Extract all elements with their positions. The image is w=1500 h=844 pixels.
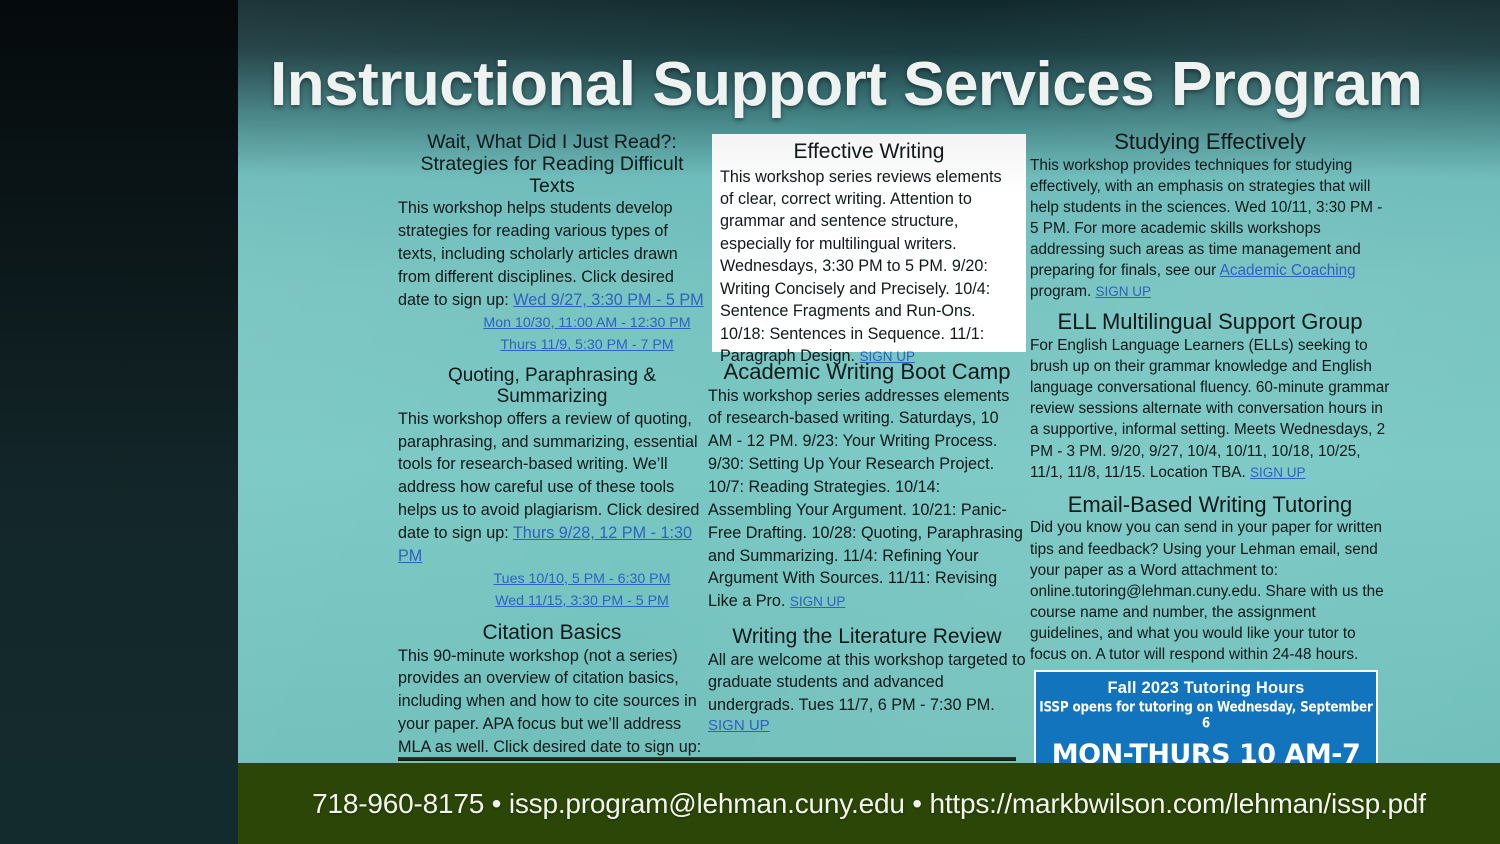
section-ell-multilingual-support-group: ELL Multilingual Support Group For Engli…	[1030, 310, 1390, 482]
section-heading: Email-Based Writing Tutoring	[1030, 493, 1390, 518]
section-quoting-paraphrasing-summarizing: Quoting, Paraphrasing & Summarizing This…	[398, 365, 706, 613]
sign-up-link[interactable]: SIGN UP	[708, 717, 770, 734]
section-body: For English Language Learners (ELLs) see…	[1030, 335, 1390, 483]
section-writing-the-literature-review: Writing the Literature Review All are we…	[708, 625, 1026, 735]
section-heading: Academic Writing Boot Camp	[708, 360, 1026, 385]
date-link[interactable]: Mon 10/30, 11:00 AM - 12:30 PM	[468, 312, 706, 335]
section-body: This workshop offers a review of quoting…	[398, 408, 706, 568]
sign-up-link[interactable]: SIGN UP	[1095, 284, 1151, 299]
footer-left-band	[0, 763, 238, 844]
tutoring-hours-title: Fall 2023 Tutoring Hours	[1036, 679, 1376, 698]
date-link-list: Mon 10/30, 11:00 AM - 12:30 PM Thurs 11/…	[468, 312, 706, 357]
section-heading-line1: Wait, What Did I Just Read?:	[398, 132, 706, 154]
footer-contact-text: 718-960-8175 • issp.program@lehman.cuny.…	[238, 763, 1500, 844]
date-link[interactable]: Wed 11/15, 3:30 PM - 5 PM	[458, 590, 706, 613]
section-academic-writing-boot-camp: Academic Writing Boot Camp This workshop…	[708, 360, 1026, 613]
sign-up-link[interactable]: SIGN UP	[790, 594, 846, 609]
date-link[interactable]: Tues 10/10, 5 PM - 6:30 PM	[458, 568, 706, 591]
section-email-based-writing-tutoring: Email-Based Writing Tutoring Did you kno…	[1030, 493, 1390, 665]
slide-stage: Instructional Support Services Program W…	[0, 0, 1500, 844]
section-body: This workshop series addresses elements …	[708, 385, 1026, 613]
section-heading-line1: Quoting, Paraphrasing & Summarizing	[398, 365, 706, 408]
date-link[interactable]: Wed 9/27, 3:30 PM - 5 PM	[513, 291, 703, 309]
section-heading: Studying Effectively	[1030, 130, 1390, 155]
left-dark-band	[0, 0, 238, 844]
page-title: Instructional Support Services Program	[270, 52, 1450, 117]
section-body: Did you know you can send in your paper …	[1030, 517, 1390, 665]
date-link-list: Tues 10/10, 5 PM - 6:30 PM Wed 11/15, 3:…	[458, 568, 706, 613]
section-heading: Writing the Literature Review	[708, 625, 1026, 649]
section-studying-effectively: Studying Effectively This workshop provi…	[1030, 130, 1390, 302]
section-heading: Effective Writing	[720, 140, 1018, 164]
tutoring-hours-subtitle: ISSP opens for tutoring on Wednesday, Se…	[1036, 699, 1376, 731]
card-effective-writing: Effective Writing This workshop series r…	[712, 134, 1026, 352]
sign-up-link[interactable]: SIGN UP	[1250, 465, 1306, 480]
section-body: This workshop provides techniques for st…	[1030, 155, 1390, 303]
academic-coaching-link[interactable]: Academic Coaching	[1220, 262, 1356, 279]
date-link[interactable]: Thurs 11/9, 5:30 PM - 7 PM	[468, 334, 706, 357]
section-heading: ELL Multilingual Support Group	[1030, 310, 1390, 335]
section-body: All are welcome at this workshop targete…	[708, 649, 1026, 718]
section-body: This workshop series reviews elements of…	[720, 166, 1018, 368]
content-divider	[398, 757, 1016, 761]
section-body: This 90-minute workshop (not a series) p…	[398, 645, 706, 759]
section-heading-line1: Citation Basics	[398, 621, 706, 645]
column-one: Wait, What Did I Just Read?: Strategies …	[398, 132, 706, 829]
column-three: Studying Effectively This workshop provi…	[1030, 130, 1390, 667]
section-heading-line2: Strategies for Reading Difficult Texts	[398, 154, 706, 198]
section-body: This workshop helps students develop str…	[398, 197, 706, 311]
column-two: Academic Writing Boot Camp This workshop…	[708, 360, 1026, 737]
section-wait-what-did-i-just-read: Wait, What Did I Just Read?: Strategies …	[398, 132, 706, 357]
sign-up-link-wrap: SIGN UP	[708, 717, 1026, 735]
